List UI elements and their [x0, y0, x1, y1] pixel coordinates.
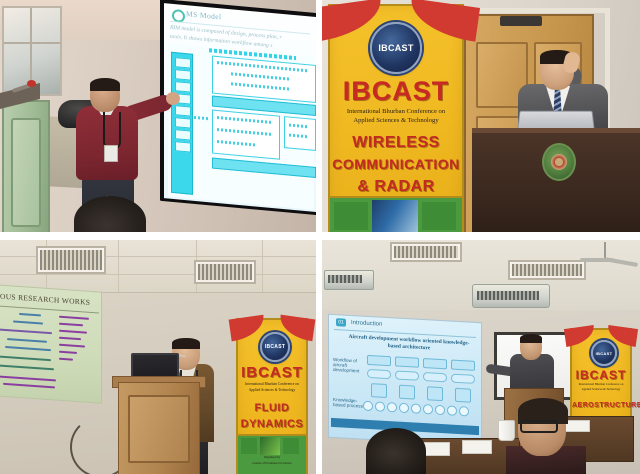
podium-crest-emblem — [542, 143, 576, 181]
glasses-icon — [520, 420, 558, 433]
banner-title: IBCAST — [330, 76, 462, 107]
lectern-panel — [128, 395, 190, 463]
presenter-hand — [166, 92, 180, 105]
photo-panel-top-right: IBCAST IBCAST International Bhurban Conf… — [322, 0, 640, 232]
slide-heading: MS Model — [186, 9, 222, 21]
banner-theme-line-2: DYNAMICS — [238, 418, 306, 430]
projection-screen: 01 Introduction Aircraft development wor… — [328, 314, 482, 447]
slide-diagram — [168, 44, 314, 210]
ceiling-light-panel — [508, 260, 586, 280]
banner-title: IBCAST — [238, 364, 306, 381]
slide-divider — [0, 305, 99, 313]
seal-text: IBCAST — [265, 344, 285, 350]
door-closer — [500, 16, 542, 26]
ceiling-light-panel — [36, 246, 106, 274]
audience-head — [366, 428, 426, 474]
banner-footer: Organized by Centres of Excellence in Sc… — [238, 434, 306, 474]
green-podium — [2, 100, 50, 232]
banner-footer-line-1: Organized by — [238, 456, 306, 460]
ibcast-standee-banner: IBCAST IBCAST International Bhurban Conf… — [328, 4, 464, 232]
presenter-head — [90, 78, 120, 112]
ceiling-light-panel — [390, 242, 462, 262]
banner-swoop-left — [228, 315, 266, 342]
banner-subtitle-line-2: Applied Sciences & Technology — [572, 388, 630, 392]
seal-text: IBCAST — [596, 351, 613, 356]
air-conditioner-unit — [324, 270, 374, 290]
diagram-box — [284, 116, 316, 151]
banner-theme-line-1: FLUID — [238, 402, 306, 414]
photo-panel-top-left: MS Model BIM model is composed of design… — [0, 0, 316, 232]
diagram-sidebar — [171, 52, 193, 195]
paper-cup — [498, 420, 515, 441]
slide-subtitle: Aircraft development workflow oriented k… — [345, 334, 473, 355]
seal-text: IBCAST — [378, 43, 413, 53]
banner-footer-line-2: Centres of Excellence in Science — [238, 462, 306, 466]
wooden-lectern — [118, 382, 200, 474]
microphone-head — [27, 80, 36, 87]
banner-title: IBCAST — [572, 368, 630, 382]
badge — [104, 145, 118, 162]
slide-row-label-2: Knowledge-based process — [333, 397, 363, 409]
banner-subtitle-line-1: International Bhurban Conference on — [238, 382, 306, 386]
diagram-box — [212, 56, 316, 103]
air-conditioner-unit — [472, 284, 550, 308]
photo-panel-bottom-right: 01 Introduction Aircraft development wor… — [322, 240, 640, 474]
banner-subtitle-line-1: International Bhurban Conference on — [330, 108, 462, 116]
ceiling-light-panel — [194, 260, 256, 284]
photo-collage: MS Model BIM model is composed of design… — [0, 0, 640, 474]
ibcast-standee-banner: IBCAST IBCAST International Bhurban Conf… — [236, 318, 308, 474]
photo-panel-bottom-left: OUS RESEARCH WORKS IBCAST — [0, 240, 316, 474]
banner-footer — [330, 196, 462, 232]
projected-slide: MS Model BIM model is composed of design… — [164, 3, 316, 212]
podium-panel — [11, 118, 41, 227]
ibcast-seal-logo: IBCAST — [370, 22, 422, 74]
banner-subtitle-line-2: Applied Sciences & Technology — [330, 117, 462, 125]
banner-swoop-left — [564, 325, 596, 347]
slide-heading: Introduction — [351, 320, 382, 328]
banner-theme-line-1: AEROSTRUCTURES — [572, 402, 630, 409]
banner-theme-line-2: COMMUNICATION — [330, 156, 462, 172]
paper-sheet — [462, 440, 492, 454]
banner-subtitle-line-2: Applied Sciences & Technology — [238, 388, 306, 392]
banner-theme-line-1: WIRELESS — [330, 134, 462, 152]
projection-screen: MS Model BIM model is composed of design… — [160, 0, 316, 215]
projection-screen: OUS RESEARCH WORKS — [0, 284, 102, 403]
diagram-highlight-bar — [212, 158, 316, 178]
slide-heading: OUS RESEARCH WORKS — [0, 292, 90, 307]
banner-theme-line-3: & RADAR — [330, 178, 462, 196]
slide-row-label-1: Workflow of aircraft development — [333, 357, 363, 374]
speaker-head — [520, 334, 542, 360]
ibcast-seal-logo: IBCAST — [591, 340, 617, 366]
ibcast-seal-logo: IBCAST — [260, 332, 290, 362]
slide-section-number: 01 — [336, 318, 346, 327]
diagram-box — [212, 110, 280, 160]
